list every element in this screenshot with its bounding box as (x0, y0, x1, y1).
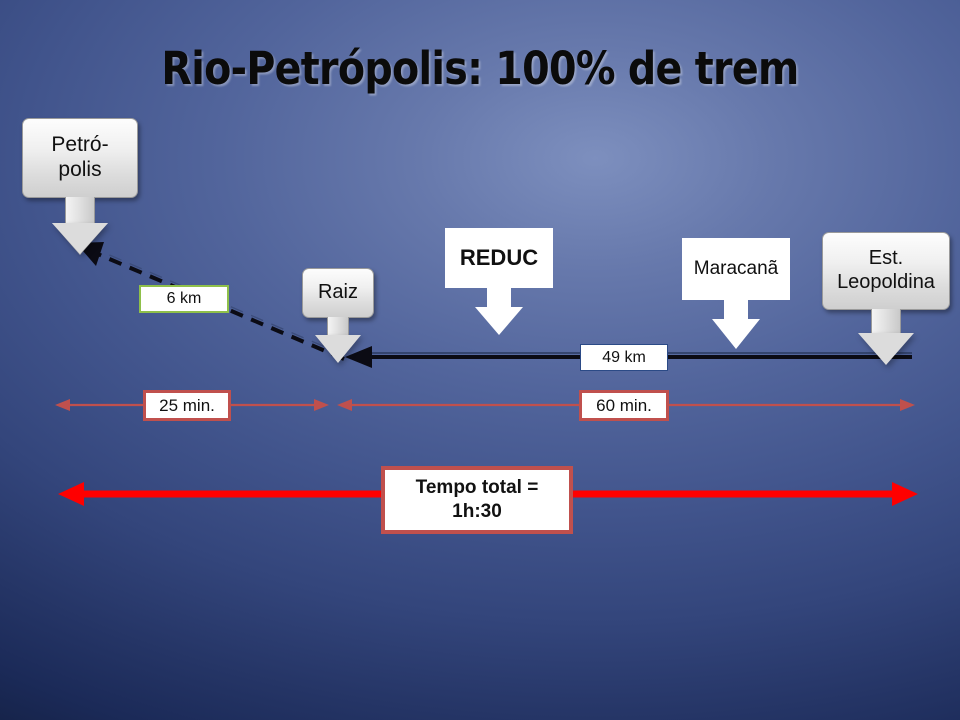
time-label-60min-text: 60 min. (596, 395, 652, 416)
distance-label-6km-text: 6 km (167, 289, 202, 309)
distance-label-6km[interactable]: 6 km (139, 285, 229, 313)
callout-maracana[interactable]: Maracanã (682, 238, 790, 300)
railway-line-layer (0, 0, 960, 720)
time-label-25min-text: 25 min. (159, 395, 215, 416)
callout-petropolis-line2: polis (51, 158, 108, 183)
total-time-line2: 1h:30 (416, 500, 539, 524)
callout-petropolis-line1: Petró- (51, 133, 108, 158)
callout-est-leopoldina-line2: Leopoldina (837, 271, 935, 295)
time-label-60min[interactable]: 60 min. (579, 390, 669, 421)
callout-petropolis-tail (52, 197, 108, 255)
total-time-label[interactable]: Tempo total = 1h:30 (381, 466, 573, 534)
distance-label-49km[interactable]: 49 km (580, 344, 668, 371)
callout-raiz-label: Raiz (318, 281, 358, 305)
callout-maracana-label: Maracanã (694, 258, 779, 280)
callout-reduc[interactable]: REDUC (445, 228, 553, 288)
callout-raiz-tail (315, 317, 361, 363)
total-time-line1: Tempo total = (416, 476, 539, 500)
callout-reduc-label: REDUC (460, 245, 538, 271)
callout-est-leopoldina[interactable]: Est. Leopoldina (822, 232, 950, 310)
distance-label-49km-text: 49 km (602, 348, 646, 368)
callout-raiz[interactable]: Raiz (302, 268, 374, 318)
callout-reduc-tail (475, 287, 523, 337)
callout-petropolis[interactable]: Petró- polis (22, 118, 138, 198)
slide-canvas: Rio-Petrópolis: 100% de trem (0, 0, 960, 720)
time-label-25min[interactable]: 25 min. (143, 390, 231, 421)
callout-maracana-tail (712, 299, 760, 351)
callout-est-leopoldina-tail (858, 309, 914, 365)
callout-est-leopoldina-line1: Est. (837, 247, 935, 271)
